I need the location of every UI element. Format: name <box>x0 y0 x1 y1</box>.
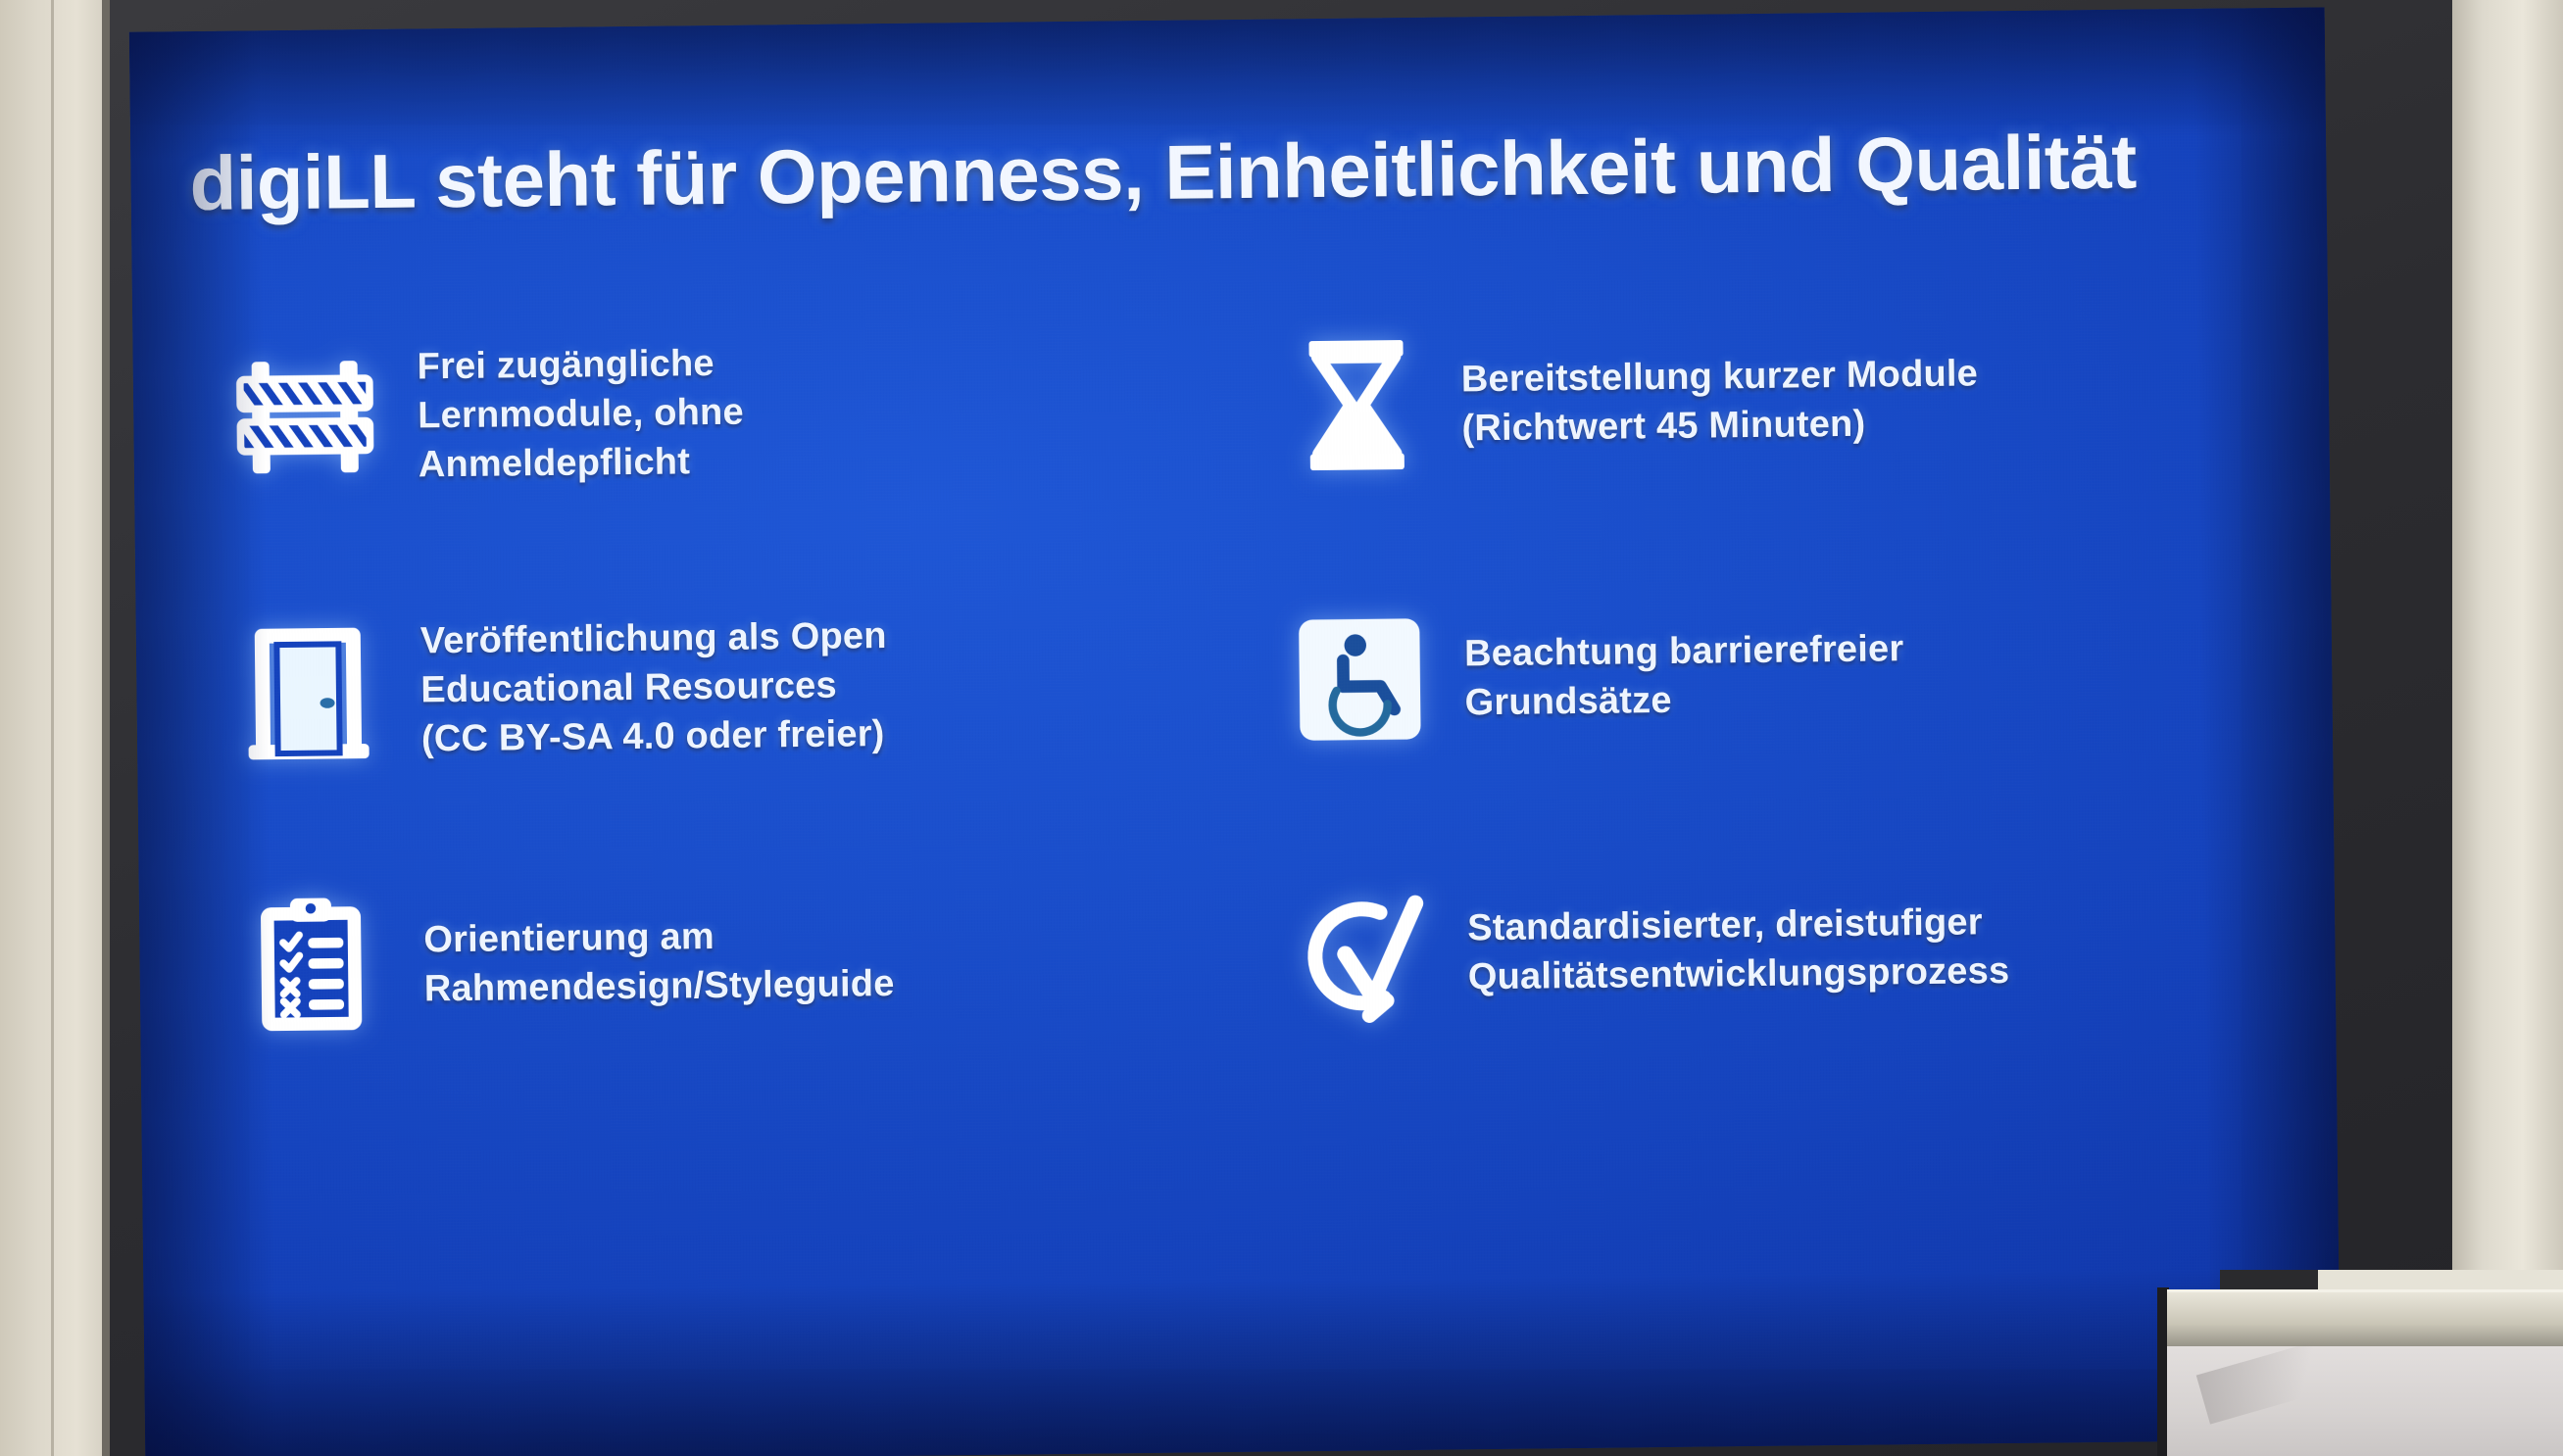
feature-text: Standardisierter, dreistufiger Qualitäts… <box>1467 898 2010 1002</box>
feature-text: Bereitstellung kurzer Module (Richtwert … <box>1461 349 1979 453</box>
open-door-icon <box>194 587 421 796</box>
feature-line: Grundsätze <box>1464 673 1904 727</box>
feature-item-accessibility: Beachtung barrierefreier Grundsätze <box>1253 532 2285 818</box>
flipchart-top-edge <box>2318 1270 2563 1291</box>
flipchart-board <box>2151 1270 2563 1456</box>
wall-seam <box>51 0 54 1456</box>
feature-item-open-access: Frei zugängliche Lernmodule, ohne Anmeld… <box>191 269 1223 556</box>
feature-item-short-modules: Bereitstellung kurzer Module (Richtwert … <box>1250 258 2282 544</box>
feature-text: Veröffentlichung als Open Educational Re… <box>420 611 889 764</box>
feature-line: Beachtung barrierefreier <box>1464 624 1904 678</box>
feature-line: Lernmodule, ohne <box>418 388 744 441</box>
feature-line: Standardisierter, dreistufiger <box>1467 898 2009 952</box>
hourglass-icon <box>1250 301 1462 509</box>
feature-text: Orientierung am Rahmendesign/Styleguide <box>423 910 895 1014</box>
slide-content: digiLL steht für Openness, Einheitlichke… <box>129 7 2341 1456</box>
flipchart-rail <box>2167 1289 2563 1350</box>
feature-line: Frei zugängliche <box>417 338 743 391</box>
feature-text: Beachtung barrierefreier Grundsätze <box>1464 624 1904 727</box>
slide-title: digiLL steht für Openness, Einheitlichke… <box>189 116 2278 228</box>
flipchart-paper <box>2167 1346 2563 1456</box>
wheelchair-accessibility-icon <box>1253 575 1465 783</box>
feature-line: Veröffentlichung als Open <box>420 611 887 666</box>
feature-line: Qualitätsentwicklungsprozess <box>1468 946 2010 1001</box>
clipboard-checklist-icon <box>197 861 424 1070</box>
room-photo: digiLL steht für Openness, Einheitlichke… <box>0 0 2563 1456</box>
wall-left <box>0 0 110 1456</box>
projected-slide: digiLL steht für Openness, Einheitlichke… <box>129 7 2341 1456</box>
feature-line: Orientierung am <box>423 910 894 965</box>
feature-item-oer-licence: Veröffentlichung als Open Educational Re… <box>194 544 1226 830</box>
feature-line: (Richtwert 45 Minuten) <box>1461 398 1979 453</box>
feature-grid: Frei zugängliche Lernmodule, ohne Anmeld… <box>191 258 2288 1104</box>
feature-line: Anmeldepflicht <box>419 437 745 490</box>
wall-right <box>2447 0 2563 1456</box>
feature-line: Educational Resources <box>420 660 887 715</box>
feature-text: Frei zugängliche Lernmodule, ohne Anmeld… <box>417 338 744 489</box>
feature-item-quality-process: Standardisierter, dreistufiger Qualitäts… <box>1256 806 2288 1092</box>
flipchart-top-shadow <box>2220 1270 2318 1291</box>
feature-line: Rahmendesign/Styleguide <box>424 959 895 1014</box>
feature-line: Bereitstellung kurzer Module <box>1461 349 1979 404</box>
feature-line: (CC BY-SA 4.0 oder freier) <box>421 709 888 764</box>
feature-item-styleguide: Orientierung am Rahmendesign/Styleguide <box>197 818 1229 1104</box>
barrier-icon <box>191 313 419 521</box>
cycle-check-icon <box>1256 849 1468 1057</box>
